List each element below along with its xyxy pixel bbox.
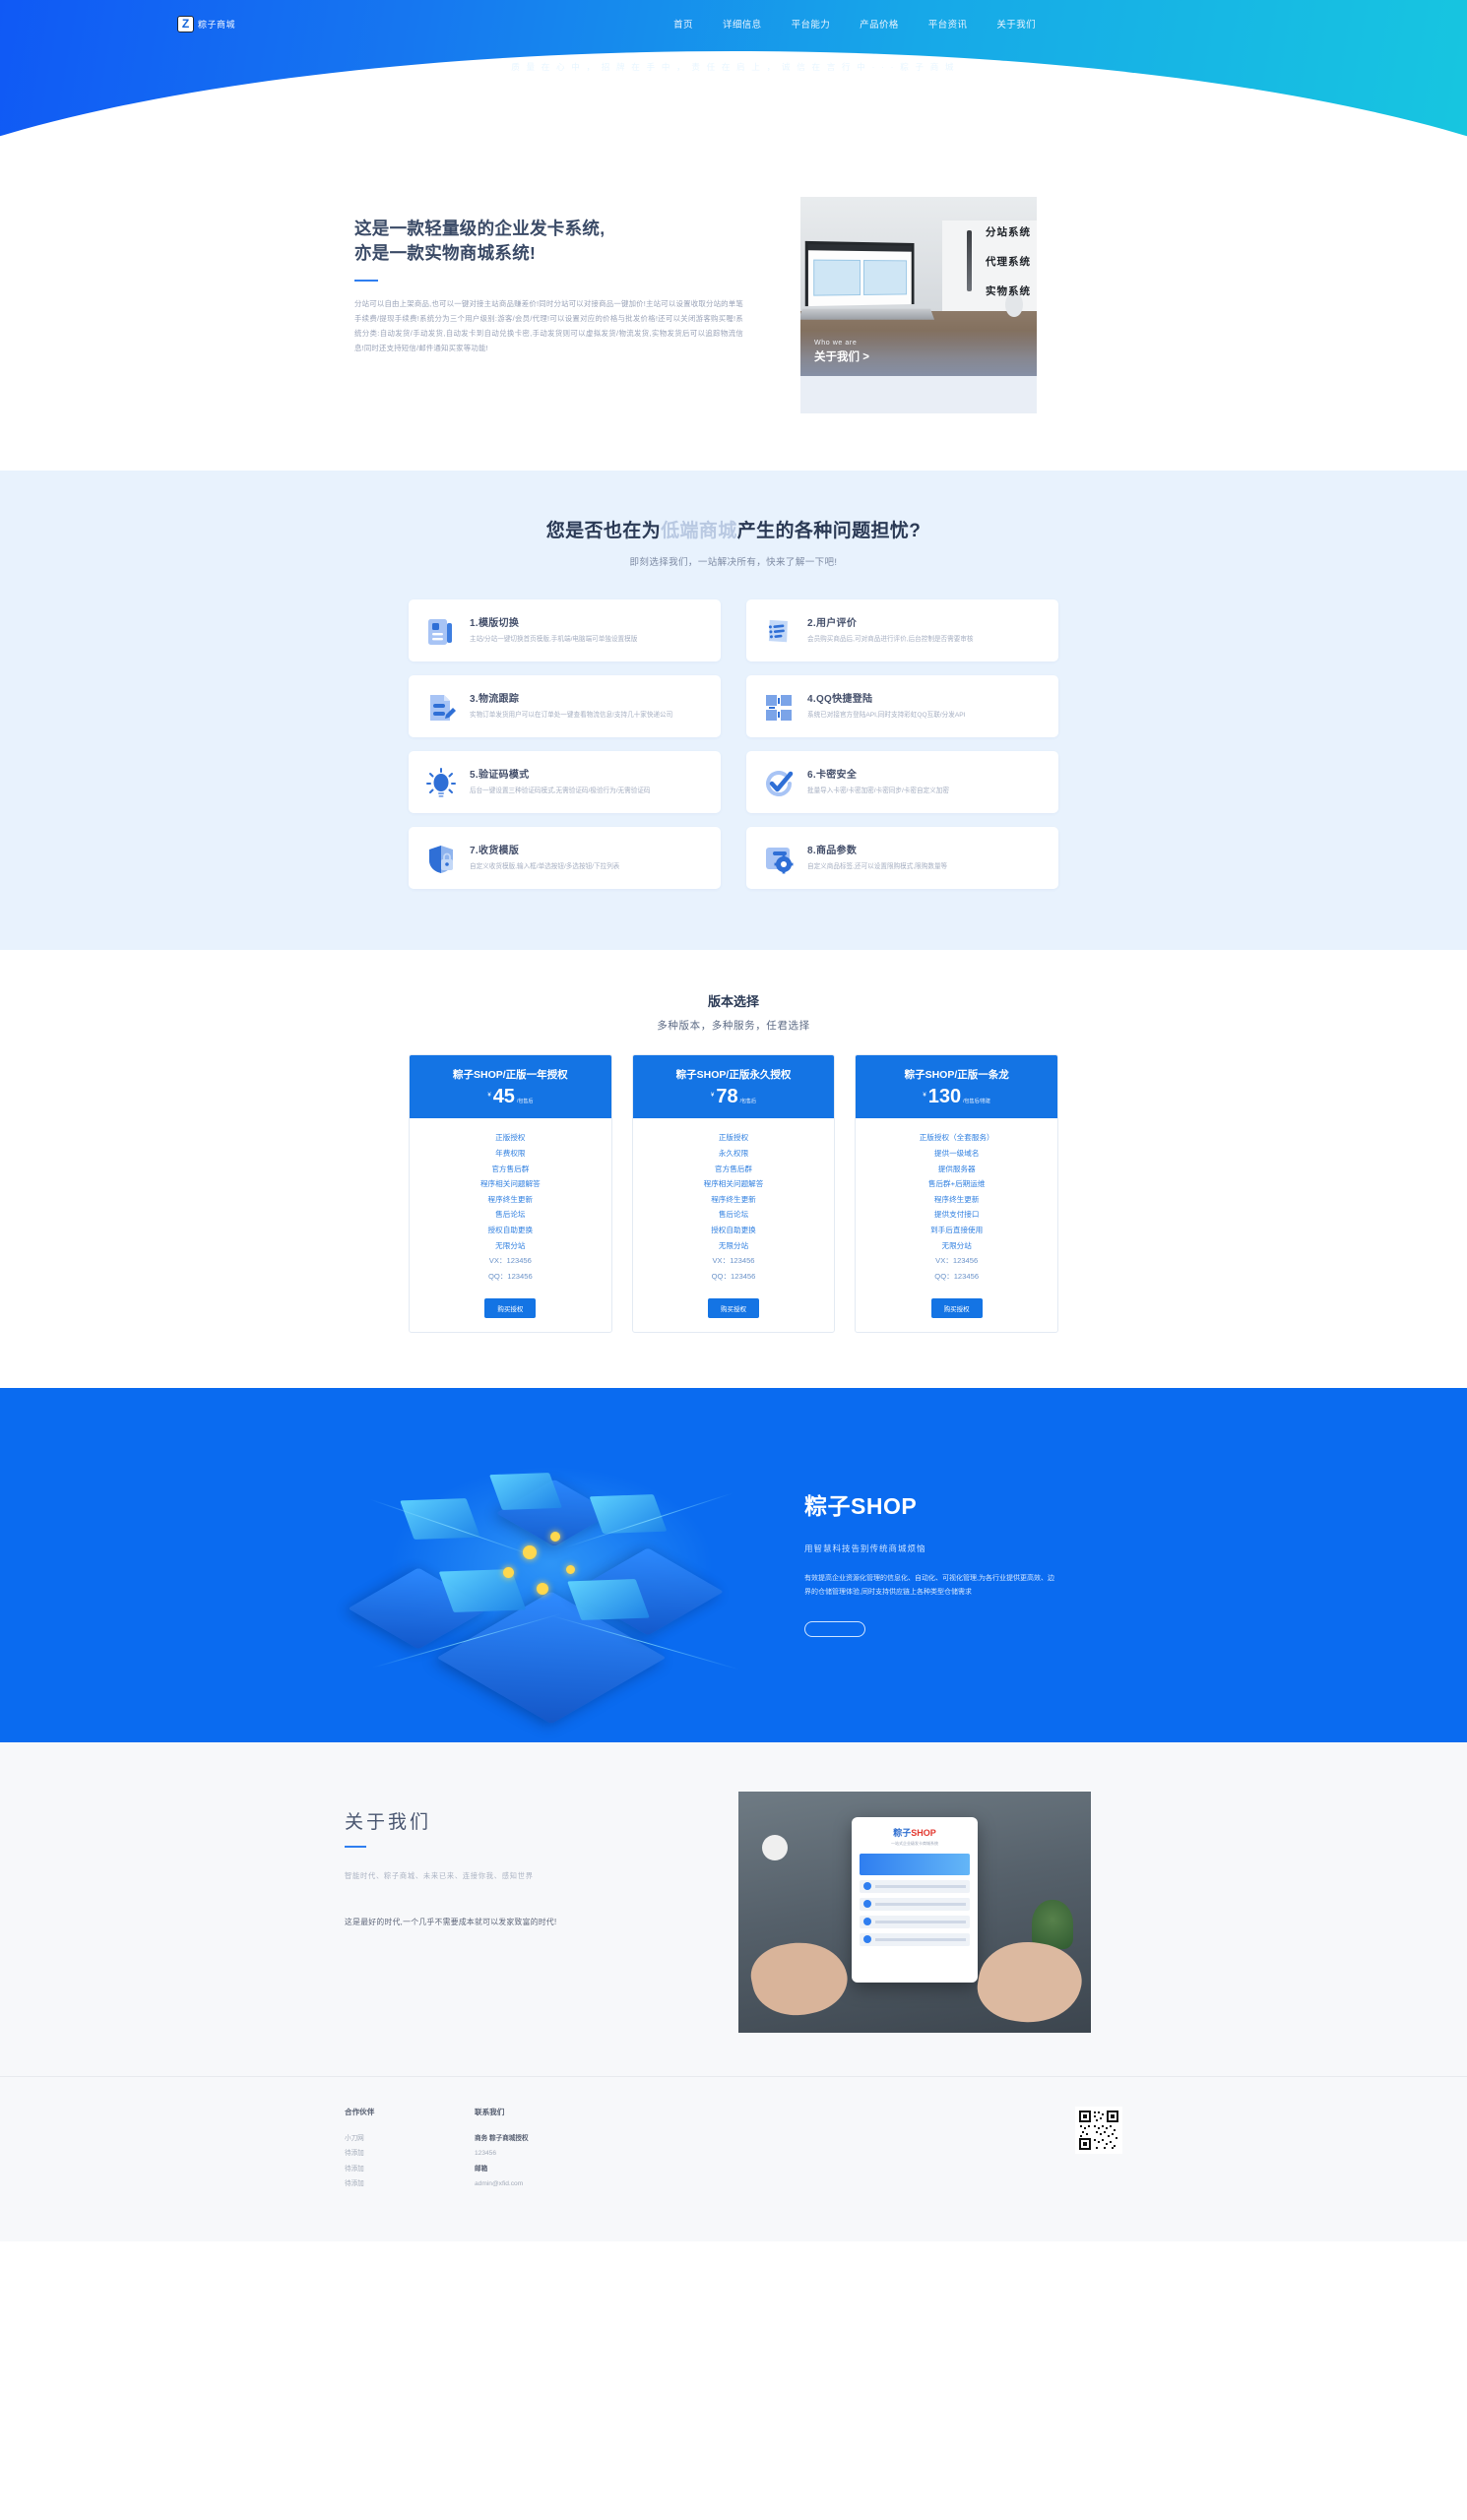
photo-tag-substation: 分站系统	[986, 224, 1031, 239]
plan-feature: 正版授权（全套服务）	[861, 1130, 1052, 1146]
plan-price: 130	[928, 1087, 961, 1106]
plan-feature: 正版授权	[639, 1130, 829, 1146]
photo-overlay[interactable]: Who we are 关于我们 >	[800, 330, 1037, 376]
plan-feature: 程序终生更新	[861, 1192, 1052, 1208]
plan-button-wrap: 购买授权	[410, 1294, 611, 1332]
footer-contact-business-value: 123456	[475, 2146, 711, 2161]
pricing-plan-permanent[interactable]: 粽子SHOP/正版永久授权 ¥ 78 /包售后 正版授权 永久权限 官方售后群 …	[632, 1054, 836, 1333]
plan-price-row: ¥ 78 /包售后	[643, 1087, 825, 1106]
feature-card-logistics-tracking[interactable]: 3.物流跟踪 实物订单发货用户可以在订单处一键查看物流信息!支持几十家快递公司	[409, 675, 721, 737]
brand-mark-icon: Z	[177, 16, 194, 32]
pricing-subtitle: 多种版本，多种服务，任君选择	[0, 1018, 1467, 1033]
plan-feature: 正版授权	[415, 1130, 606, 1146]
feature-card-desc: 系统已对接官方登陆API,同时支持彩虹QQ互联/分发API	[807, 710, 1043, 722]
footer-col-partners: 合作伙伴 小刀网 待添加 待添加 待添加	[345, 2107, 475, 2192]
feature-card-qq-login[interactable]: 4.QQ快捷登陆 系统已对接官方登陆API,同时支持彩虹QQ互联/分发API	[746, 675, 1058, 737]
qr-code-icon	[1075, 2107, 1122, 2154]
plan-feature: 授权自助更换	[639, 1223, 829, 1238]
feature-card-user-review[interactable]: 2.用户评价 会员购买商品后,可对商品进行评价,后台控制是否需要审核	[746, 599, 1058, 661]
feature-card-title: 3.物流跟踪	[470, 690, 705, 705]
pricing-plan-one-year[interactable]: 粽子SHOP/正版一年授权 ¥ 45 /包售后 正版授权 年费权限 官方售后群 …	[409, 1054, 612, 1333]
pricing-title: 版本选择	[0, 991, 1467, 1010]
feature-card-desc: 实物订单发货用户可以在订单处一键查看物流信息!支持几十家快递公司	[470, 710, 705, 722]
footer-partner-item[interactable]: 小刀网	[345, 2131, 475, 2146]
user-review-icon	[762, 615, 796, 649]
promo-banner-section: 粽子SHOP 用智慧科技告别传统商城烦恼 有效提高企业资源化管理的信息化、自动化…	[0, 1388, 1467, 1742]
isometric-illustration	[340, 1421, 763, 1707]
plan-feature-list: 正版授权（全套服务） 提供一级域名 提供服务器 售后群+后期运维 程序终生更新 …	[856, 1118, 1057, 1293]
footer-col-contact: 联系我们 商务 粽子商城授权 123456 邮箱 admin@xfid.com	[475, 2107, 711, 2192]
photo-overlay-en: Who we are	[814, 340, 1023, 346]
plan-feature-list: 正版授权 永久权限 官方售后群 程序相关问题解答 程序终生更新 售后论坛 授权自…	[633, 1118, 835, 1293]
about-photo-tablet: 粽子SHOP 一站式企业级发卡商城系统	[852, 1817, 978, 1983]
buy-license-button[interactable]: 购买授权	[708, 1298, 759, 1318]
footer-partner-item[interactable]: 待添加	[345, 2146, 475, 2161]
logistics-tracking-icon	[424, 691, 458, 724]
feature-card-product-params[interactable]: 8.商品参数 自定义商品标签,还可以设置限购模式,限购数量等	[746, 827, 1058, 889]
product-params-icon	[762, 843, 796, 876]
intro-heading: 这是一款轻量级的企业发卡系统, 亦是一款实物商城系统!	[354, 217, 743, 267]
features-title-pre: 您是否也在为	[546, 521, 661, 541]
nav-item-home[interactable]: 首页	[673, 17, 693, 31]
feature-card-title: 7.收货模版	[470, 842, 705, 856]
plan-feature: 无限分站	[639, 1238, 829, 1254]
photo-tag-list: 分站系统 代理系统 实物系统	[986, 224, 1031, 313]
about-section: 关于我们 智能时代、粽子商城、未来已来、连接你我、感知世界 这是最好的时代,一个…	[0, 1742, 1467, 2076]
plan-contact-vx: VX：123456	[639, 1253, 829, 1269]
tablet-logo: 粽子SHOP	[860, 1826, 970, 1839]
plan-feature: 程序终生更新	[639, 1192, 829, 1208]
nav-item-ability[interactable]: 平台能力	[792, 17, 831, 31]
plan-price: 78	[716, 1087, 737, 1106]
iso-node-4	[566, 1565, 575, 1574]
plan-feature: 程序相关问题解答	[415, 1176, 606, 1192]
about-text-block: 关于我们 智能时代、粽子商城、未来已来、连接你我、感知世界 这是最好的时代,一个…	[345, 1792, 679, 1928]
plan-feature: 程序终生更新	[415, 1192, 606, 1208]
photo-tag-agent: 代理系统	[986, 254, 1031, 269]
plan-header: 粽子SHOP/正版永久授权 ¥ 78 /包售后	[633, 1055, 835, 1118]
feature-card-title: 2.用户评价	[807, 614, 1043, 629]
main-navigation: Z 粽子商城 首页 详细信息 平台能力 产品价格 平台资讯 关于我们	[177, 0, 1290, 47]
tablet-row	[860, 1898, 970, 1911]
promo-subheading: 用智慧科技告别传统商城烦恼	[804, 1543, 1127, 1554]
features-subtitle: 即刻选择我们，一站解决所有，快来了解一下吧!	[0, 554, 1467, 568]
plan-feature: 永久权限	[639, 1146, 829, 1162]
pricing-plan-list: 粽子SHOP/正版一年授权 ¥ 45 /包售后 正版授权 年费权限 官方售后群 …	[409, 1054, 1058, 1333]
plan-feature: 售后论坛	[415, 1207, 606, 1223]
intro-text-block: 这是一款轻量级的企业发卡系统, 亦是一款实物商城系统! 分站可以自由上架商品,也…	[354, 197, 743, 356]
brand-name: 粽子商城	[198, 18, 235, 31]
plan-note: /包售后/搭建	[963, 1098, 990, 1104]
plan-price: 45	[493, 1087, 515, 1106]
photo-overlay-cn: 关于我们 >	[814, 348, 1023, 364]
features-section: 您是否也在为低端商城产生的各种问题担忧? 即刻选择我们，一站解决所有，快来了解一…	[0, 471, 1467, 950]
plan-name: 粽子SHOP/正版一年授权	[419, 1068, 602, 1083]
plan-contact-vx: VX：123456	[861, 1253, 1052, 1269]
feature-card-title: 5.验证码模式	[470, 766, 705, 781]
tablet-row	[860, 1880, 970, 1893]
tablet-logo-prefix: 粽子	[893, 1828, 911, 1838]
plan-feature-list: 正版授权 年费权限 官方售后群 程序相关问题解答 程序终生更新 售后论坛 授权自…	[410, 1118, 611, 1293]
about-divider	[345, 1846, 366, 1849]
features-title-post: 产生的各种问题担忧?	[737, 521, 922, 541]
feature-card-card-security[interactable]: 6.卡密安全 批量导入卡密/卡密加密/卡密同步/卡密自定义加密	[746, 751, 1058, 813]
feature-card-desc: 会员购买商品后,可对商品进行评价,后台控制是否需要审核	[807, 634, 1043, 646]
feature-card-title: 6.卡密安全	[807, 766, 1043, 781]
photo-laptop-content	[808, 250, 912, 305]
intro-divider	[354, 280, 378, 283]
hero-title: 粽子商城SHOP	[0, 80, 1467, 116]
plan-feature: 提供支付接口	[861, 1207, 1052, 1223]
feature-card-desc: 批量导入卡密/卡密加密/卡密同步/卡密自定义加密	[807, 786, 1043, 797]
plan-button-wrap: 购买授权	[633, 1294, 835, 1332]
photo-laptop-screen	[805, 241, 915, 306]
tablet-row	[860, 1916, 970, 1928]
about-photo-hand-right	[973, 1933, 1088, 2031]
footer-contact-email-label: 邮箱	[475, 2162, 711, 2176]
feature-card-desc: 自定义商品标签,还可以设置限购模式,限购数量等	[807, 861, 1043, 873]
buy-license-button[interactable]: 购买授权	[931, 1298, 983, 1318]
template-switch-icon	[424, 615, 458, 649]
iso-node-5	[537, 1583, 548, 1595]
captcha-mode-icon	[424, 767, 458, 800]
plan-header: 粽子SHOP/正版一年授权 ¥ 45 /包售后	[410, 1055, 611, 1118]
plan-feature: 售后群+后期运维	[861, 1176, 1052, 1192]
tablet-banner	[860, 1854, 970, 1875]
card-security-icon	[762, 767, 796, 800]
plan-contact-vx: VX：123456	[415, 1253, 606, 1269]
plan-currency: ¥	[923, 1093, 925, 1099]
feature-card-template-switch[interactable]: 1.模版切换 主站/分站一键切换首页模版,手机端/电脑端可单独设置模版	[409, 599, 721, 661]
photo-tag-physical: 实物系统	[986, 283, 1031, 298]
iso-screen-2	[489, 1473, 562, 1510]
tablet-row	[860, 1933, 970, 1946]
qq-login-icon	[762, 691, 796, 724]
plan-contact-qq: QQ：123456	[639, 1269, 829, 1285]
photo-pen	[967, 230, 972, 291]
iso-node-2	[550, 1532, 560, 1542]
tablet-logo-suffix: SHOP	[911, 1828, 936, 1838]
plan-name: 粽子SHOP/正版一条龙	[865, 1068, 1048, 1083]
feature-card-captcha-mode[interactable]: 5.验证码模式 后台一键设置三种验证码模式,无需验证码/极验行为/无需验证码	[409, 751, 721, 813]
plan-feature: 程序相关问题解答	[639, 1176, 829, 1192]
receive-template-icon	[424, 843, 458, 876]
features-card-grid: 1.模版切换 主站/分站一键切换首页模版,手机端/电脑端可单独设置模版 2.用户…	[409, 599, 1058, 889]
footer-partner-item[interactable]: 待添加	[345, 2176, 475, 2191]
brand-logo[interactable]: Z 粽子商城	[177, 16, 235, 32]
feature-card-receive-template[interactable]: 7.收货模版 自定义收货模版,输入框/单选按钮/多选按钮/下拉列表	[409, 827, 721, 889]
plan-name: 粽子SHOP/正版永久授权	[643, 1068, 825, 1083]
footer-contact-business-label: 商务 粽子商城授权	[475, 2131, 711, 2146]
intro-heading-line2: 亦是一款实物商城系统!	[354, 241, 743, 266]
iso-node-3	[503, 1567, 514, 1578]
plan-feature: 售后论坛	[639, 1207, 829, 1223]
feature-card-desc: 主站/分站一键切换首页模版,手机端/电脑端可单独设置模版	[470, 634, 705, 646]
plan-note: /包售后	[740, 1098, 756, 1104]
intro-section: 这是一款轻量级的企业发卡系统, 亦是一款实物商城系统! 分站可以自由上架商品,也…	[0, 150, 1467, 471]
about-paragraph: 这是最好的时代,一个几乎不需要成本就可以发家致富的时代!	[345, 1917, 679, 1927]
hero-subtitle: 质 量 在 心 中 ， 招 牌 在 手 中 ， 责 任 在 肩 上 ， 诚 信 …	[0, 61, 1467, 73]
pricing-section: 版本选择 多种版本，多种服务，任君选择 粽子SHOP/正版一年授权 ¥ 45 /…	[0, 950, 1467, 1388]
features-title-highlight: 低端商城	[661, 521, 737, 541]
tablet-subtitle: 一站式企业级发卡商城系统	[860, 1841, 970, 1847]
iso-screen-5	[567, 1579, 650, 1620]
plan-price-row: ¥ 130 /包售后/搭建	[865, 1087, 1048, 1106]
plan-feature: 无限分站	[415, 1238, 606, 1254]
feature-card-title: 1.模版切换	[470, 614, 705, 629]
promo-text-block: 粽子SHOP 用智慧科技告别传统商城烦恼 有效提高企业资源化管理的信息化、自动化…	[798, 1487, 1127, 1641]
site-footer: 合作伙伴 小刀网 待添加 待添加 待添加 联系我们 商务 粽子商城授权 1234…	[0, 2076, 1467, 2241]
plan-currency: ¥	[711, 1093, 714, 1099]
about-photo-plant	[1032, 1900, 1073, 1949]
plan-contact-qq: QQ：123456	[415, 1269, 606, 1285]
nav-item-about[interactable]: 关于我们	[996, 17, 1036, 31]
intro-heading-line1: 这是一款轻量级的企业发卡系统,	[354, 217, 743, 241]
promo-paragraph: 有效提高企业资源化管理的信息化、自动化、可视化管理,为各行业提供更高效、边界的仓…	[804, 1572, 1060, 1600]
about-photo-cup	[762, 1835, 788, 1860]
plan-feature: 提供服务器	[861, 1162, 1052, 1177]
plan-contact-qq: QQ：123456	[861, 1269, 1052, 1285]
nav-item-details[interactable]: 详细信息	[723, 17, 762, 31]
nav-item-news[interactable]: 平台资讯	[928, 17, 968, 31]
feature-card-title: 4.QQ快捷登陆	[807, 690, 1043, 705]
photo-caption-band	[800, 376, 1037, 413]
plan-feature: 到手后直接使用	[861, 1223, 1052, 1238]
about-heading: 关于我们	[345, 1807, 679, 1834]
promo-cta-button[interactable]	[804, 1621, 865, 1637]
plan-feature: 无限分站	[861, 1238, 1052, 1254]
hero-header: Z 粽子商城 首页 详细信息 平台能力 产品价格 平台资讯 关于我们 质 量 在…	[0, 0, 1467, 150]
footer-heading-partners: 合作伙伴	[345, 2107, 475, 2117]
intro-photo-block[interactable]: 分站系统 代理系统 实物系统 Who we are 关于我们 >	[800, 197, 1037, 413]
plan-feature: 提供一级域名	[861, 1146, 1052, 1162]
plan-feature: 官方售后群	[415, 1162, 606, 1177]
feature-card-desc: 自定义收货模版,输入框/单选按钮/多选按钮/下拉列表	[470, 861, 705, 873]
plan-feature: 官方售后群	[639, 1162, 829, 1177]
footer-partner-item[interactable]: 待添加	[345, 2162, 475, 2176]
nav-item-pricing[interactable]: 产品价格	[860, 17, 899, 31]
photo-laptop-keyboard	[800, 309, 934, 320]
pricing-plan-full-service[interactable]: 粽子SHOP/正版一条龙 ¥ 130 /包售后/搭建 正版授权（全套服务） 提供…	[855, 1054, 1058, 1333]
plan-feature: 年费权限	[415, 1146, 606, 1162]
feature-card-title: 8.商品参数	[807, 842, 1043, 856]
promo-heading: 粽子SHOP	[804, 1487, 1127, 1521]
plan-feature: 授权自助更换	[415, 1223, 606, 1238]
feature-card-desc: 后台一键设置三种验证码模式,无需验证码/极验行为/无需验证码	[470, 786, 705, 797]
plan-note: /包售后	[517, 1098, 533, 1104]
plan-currency: ¥	[487, 1093, 490, 1099]
plan-price-row: ¥ 45 /包售后	[419, 1087, 602, 1106]
footer-contact-email-value: admin@xfid.com	[475, 2176, 711, 2191]
buy-license-button[interactable]: 购买授权	[484, 1298, 536, 1318]
plan-header: 粽子SHOP/正版一条龙 ¥ 130 /包售后/搭建	[856, 1055, 1057, 1118]
about-photo-hand-left	[745, 1932, 853, 2023]
footer-heading-contact: 联系我们	[475, 2107, 711, 2117]
plan-button-wrap: 购买授权	[856, 1294, 1057, 1332]
intro-photo: 分站系统 代理系统 实物系统 Who we are 关于我们 >	[800, 197, 1037, 376]
intro-paragraph: 分站可以自由上架商品,也可以一键对接主站商品赚差价!同时分站可以对接商品一键加价…	[354, 297, 743, 355]
features-title: 您是否也在为低端商城产生的各种问题担忧?	[0, 516, 1467, 542]
about-tagline: 智能时代、粽子商城、未来已来、连接你我、感知世界	[345, 1871, 679, 1881]
about-photo: 粽子SHOP 一站式企业级发卡商城系统	[738, 1792, 1091, 2033]
nav-links: 首页 详细信息 平台能力 产品价格 平台资讯 关于我们	[673, 17, 1036, 31]
